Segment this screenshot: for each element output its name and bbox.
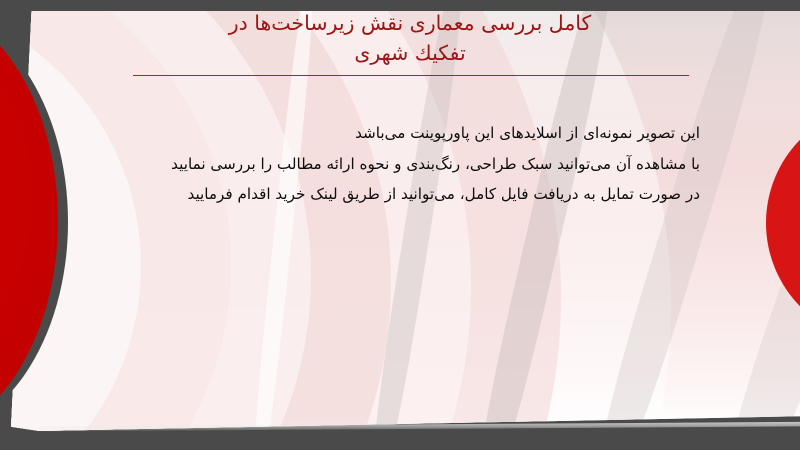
slide-title-line-1: کامل بررسی معماری نقش زیرساخت‌ها در: [120, 8, 700, 38]
slide-body-line-3: در صورت تمایل به دریافت فایل کامل، می‌تو…: [100, 179, 700, 210]
slide-body-line-2: با مشاهده آن می‌توانید سبک طراحی، رنگ‌بن…: [100, 149, 700, 180]
background-grey-streak-2: [463, 11, 622, 431]
background-grey-streak-1: [363, 11, 470, 431]
slide-title-line-2: تفکیك شهری: [120, 38, 700, 68]
slide-content-plate: [11, 11, 800, 431]
presentation-slide: کامل بررسی معماری نقش زیرساخت‌ها در تفکی…: [0, 0, 800, 450]
background-highlight-streak: [247, 11, 319, 431]
slide-title: کامل بررسی معماری نقش زیرساخت‌ها در تفکی…: [120, 8, 700, 68]
background-arc-pattern: [11, 11, 800, 431]
slide-body-line-1: این تصویر نمونه‌ای از اسلایدهای این پاور…: [100, 118, 700, 149]
title-underline-rule: [133, 75, 689, 76]
background-arc-band-4: [11, 11, 391, 431]
slide-body-text: این تصویر نمونه‌ای از اسلایدهای این پاور…: [100, 118, 700, 210]
